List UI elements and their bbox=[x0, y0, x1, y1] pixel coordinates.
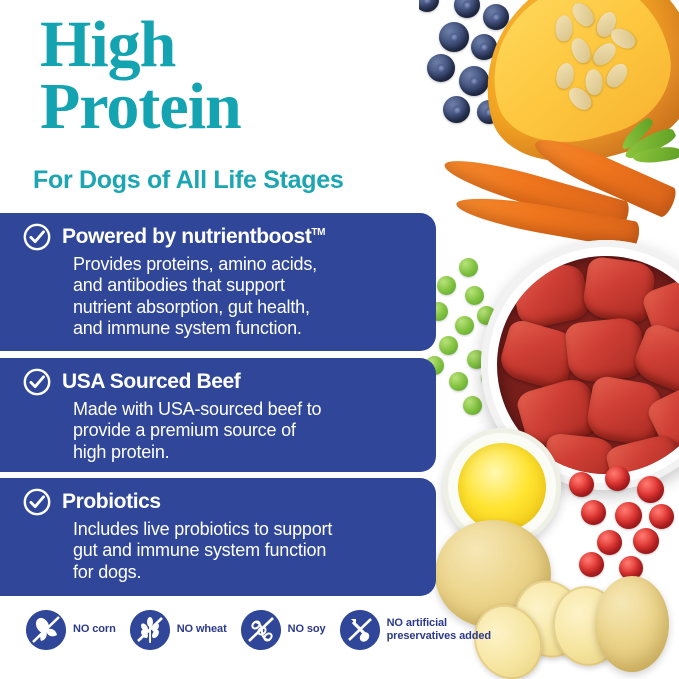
page-title: High Protein bbox=[40, 14, 440, 138]
feature-panel-usa-sourced-beef: USA Sourced Beef Made with USA-sourced b… bbox=[0, 358, 436, 472]
claims-badge-row: NO corn NO wheat bbox=[26, 610, 505, 650]
feature-panel-probiotics: Probiotics Includes live probiotics to s… bbox=[0, 478, 436, 596]
badge-no-wheat: NO wheat bbox=[130, 610, 227, 650]
trademark-symbol: TM bbox=[311, 227, 325, 238]
panel-title: USA Sourced Beef bbox=[62, 370, 240, 394]
headline-line-2: Protein bbox=[40, 76, 440, 138]
panel-body: Includes live probiotics to support gut … bbox=[0, 517, 436, 583]
badge-label: NO artificial preservatives added bbox=[387, 617, 492, 643]
badge-label: NO soy bbox=[288, 623, 326, 636]
badge-no-corn: NO corn bbox=[26, 610, 116, 650]
food-imagery-collage bbox=[419, 0, 679, 679]
panel-title: Powered by nutrientboostTM bbox=[62, 225, 325, 249]
check-circle-icon bbox=[22, 222, 52, 252]
panel-body: Made with USA-sourced beef to provide a … bbox=[0, 397, 436, 463]
page-subtitle: For Dogs of All Life Stages bbox=[33, 166, 343, 195]
badge-no-artificial-preservatives: NO artificial preservatives added bbox=[340, 610, 492, 650]
panel-title-text: Probiotics bbox=[62, 490, 161, 513]
panel-header: Powered by nutrientboostTM bbox=[0, 213, 436, 252]
check-circle-icon bbox=[22, 367, 52, 397]
headline-line-1: High bbox=[40, 14, 440, 76]
badge-label: NO wheat bbox=[177, 623, 227, 636]
no-wheat-icon bbox=[130, 610, 170, 650]
no-preservatives-icon bbox=[340, 610, 380, 650]
feature-panel-nutrientboost: Powered by nutrientboostTM Provides prot… bbox=[0, 213, 436, 351]
panel-header: USA Sourced Beef bbox=[0, 358, 436, 397]
panel-body: Provides proteins, amino acids, and anti… bbox=[0, 252, 436, 340]
panel-title-text: USA Sourced Beef bbox=[62, 370, 240, 393]
panel-title: Probiotics bbox=[62, 490, 161, 514]
badge-no-soy: NO soy bbox=[241, 610, 326, 650]
panel-header: Probiotics bbox=[0, 478, 436, 517]
no-corn-icon bbox=[26, 610, 66, 650]
panel-title-text: Powered by nutrientboost bbox=[62, 225, 311, 248]
badge-label: NO corn bbox=[73, 623, 116, 636]
no-soy-icon bbox=[241, 610, 281, 650]
check-circle-icon bbox=[22, 487, 52, 517]
